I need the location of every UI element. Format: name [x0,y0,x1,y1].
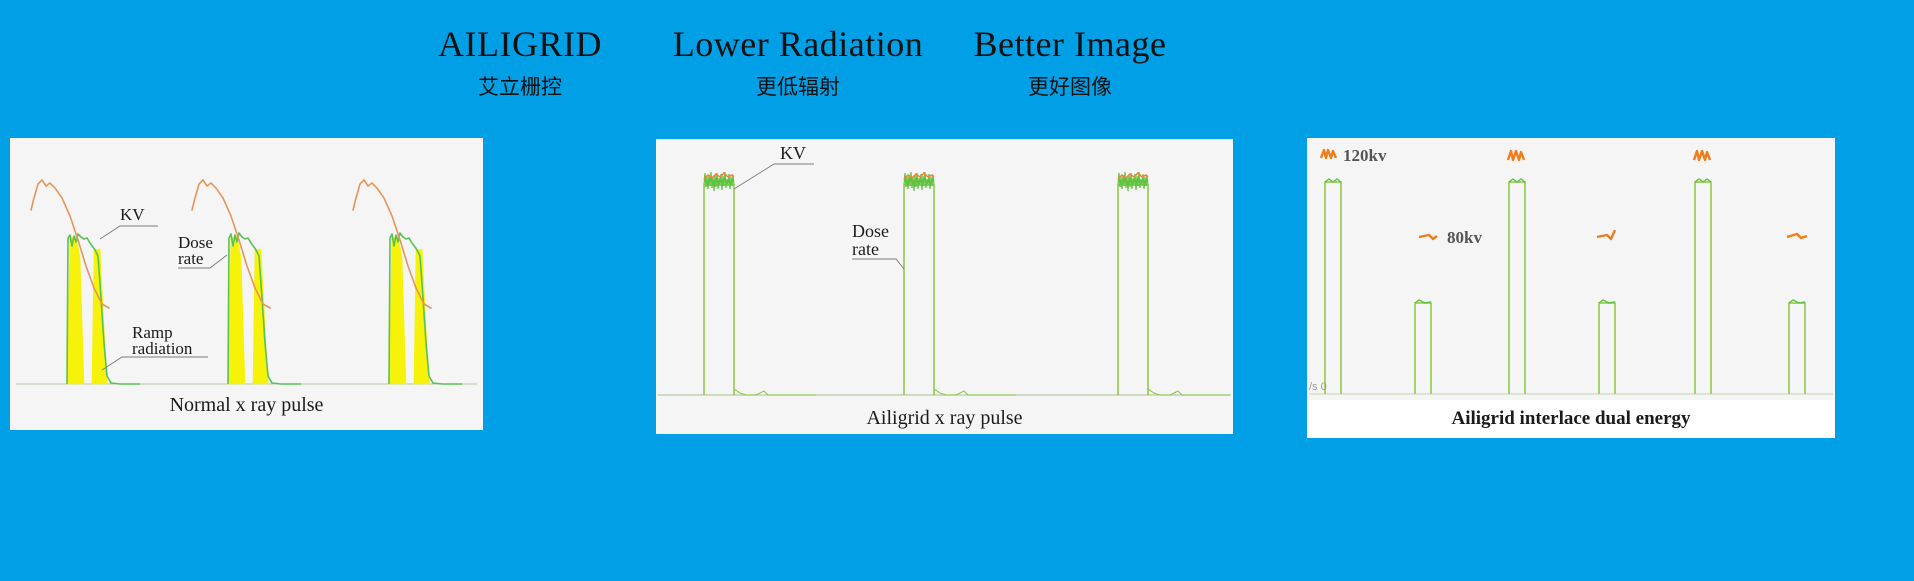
square-pulse-1 [704,172,816,395]
legend-label-80kv: 80kv [1447,228,1482,247]
pulse-group-2 [192,180,301,384]
legend-80kv: 80kv [1419,228,1482,247]
kv-marker-icon-80 [1419,235,1437,239]
panel-ailigrid-x-ray-pulse: KV Dose rate Ailigrid x ray pulse [656,139,1233,434]
leader-line-dose-rate [852,259,904,269]
header-column-better-image: Better Image 更好图像 [905,22,1235,102]
annotation-dose-rate: Dose rate [178,233,227,268]
leader-line-ramp-radiation [102,357,208,370]
pulse-group-3 [353,180,462,384]
pulse-tall-1 [1325,179,1341,394]
annotation-label-rate: rate [178,249,203,268]
annotation-ramp-radiation: Ramp radiation [102,323,208,370]
annotation-label-kv: KV [780,143,806,163]
pulse-outline-short-3 [1789,303,1805,394]
annotation-label-dose: Dose [852,221,889,241]
pulse-short-1 [1415,300,1431,394]
pulse-short-3 [1787,234,1807,394]
leader-line-kv [100,226,158,239]
panel-caption-interlace: Ailigrid interlace dual energy [1307,408,1835,430]
kv-marker-icon-tall-2 [1508,151,1524,160]
kv-marker-icon-short-2 [1597,230,1615,239]
legend-120kv: 120kv [1321,146,1387,165]
legend-label-120kv: 120kv [1343,146,1387,165]
leader-line-kv [734,164,814,189]
pulse-outline-tall-2 [1509,182,1525,394]
chart-interlace-dual-energy: 120kv 80kv [1307,138,1835,400]
annotation-kv: KV [734,143,814,189]
annotation-kv: KV [100,205,158,239]
pulse-outline-2 [904,185,934,395]
kv-marker-icon-tall-3 [1694,151,1710,160]
pulse-outline-short-2 [1599,303,1615,394]
pulse-tail-1 [734,389,816,395]
axis-tick-label: /s 0 [1309,381,1327,393]
pulse-outline-short-1 [1415,303,1431,394]
header-banner: AILIGRID 艾立栅控 Lower Radiation 更低辐射 Bette… [0,22,1914,122]
pulse-tail-3 [1148,389,1230,395]
header-title-zh-2: 更好图像 [905,72,1235,102]
chart-normal-x-ray-pulse: KV Dose rate Ramp radiation [10,138,483,391]
annotation-label-kv: KV [120,205,145,224]
square-pulse-3 [1118,172,1230,395]
panel-interlace-dual-energy: 120kv 80kv [1307,138,1835,438]
ramp-radiation-area-1 [67,236,84,384]
pulse-tall-2 [1508,151,1525,394]
ramp-radiation-area-2 [228,236,245,384]
pulse-outline-1 [704,185,734,395]
pulse-tall-3 [1694,151,1711,394]
annotation-label-rate: rate [852,239,879,259]
chart-ailigrid-x-ray-pulse: KV Dose rate [656,139,1233,402]
annotation-label-radiation: radiation [132,339,193,358]
header-title-en-0: AILIGRID [380,22,660,66]
square-pulse-2 [904,172,1016,395]
pulse-outline-tall-1 [1325,182,1341,394]
kv-marker-icon-120 [1321,150,1336,158]
kv-marker-icon-short-3 [1787,234,1807,238]
panel-caption-normal: Normal x ray pulse [10,394,483,417]
header-title-en-2: Better Image [905,22,1235,66]
panel-normal-x-ray-pulse: KV Dose rate Ramp radiation Normal x ray… [10,138,483,430]
ramp-radiation-area-3 [389,236,406,384]
pulse-short-2 [1597,230,1615,394]
header-title-zh-0: 艾立栅控 [380,72,660,102]
pulse-outline-3 [1118,185,1148,395]
header-column-ailigrid: AILIGRID 艾立栅控 [380,22,660,102]
panel-caption-ailigrid: Ailigrid x ray pulse [656,407,1233,430]
annotation-dose-rate: Dose rate [852,221,904,269]
pulse-tail-2 [934,389,1016,395]
pulse-outline-tall-3 [1695,182,1711,394]
